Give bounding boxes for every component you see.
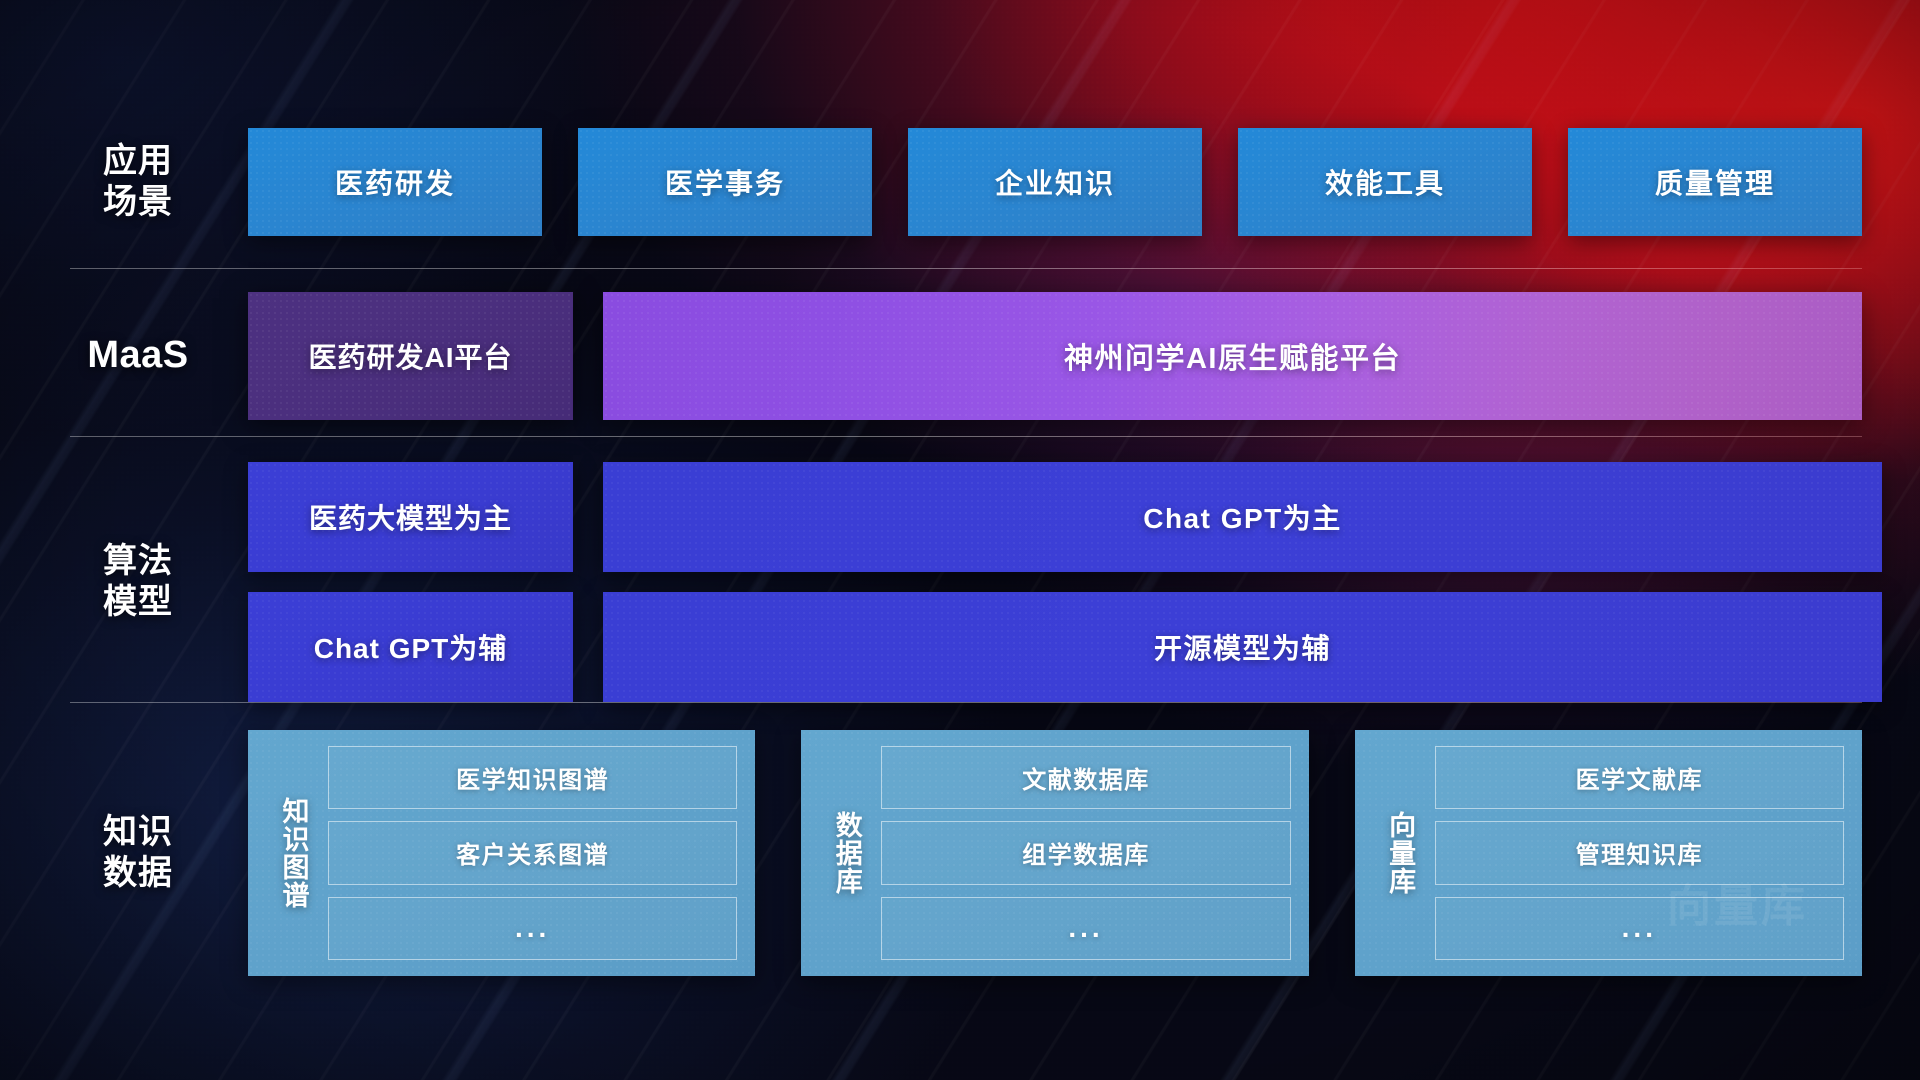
maas-card-label: 神州问学AI原生赋能平台: [1064, 335, 1401, 377]
knowledge-item-list: 医学知识图谱 客户关系图谱 ...: [328, 746, 737, 960]
knowledge-item-omics-db[interactable]: 组学数据库: [881, 821, 1290, 884]
algo-card-opensource-secondary[interactable]: 开源模型为辅: [603, 592, 1882, 702]
layer-algorithm-models: 算法 模型 医药大模型为主 Chat GPT为主 Chat GPT为辅 开源模型…: [0, 462, 1920, 702]
knowledge-group-title: 数据库: [811, 746, 881, 960]
divider-algorithm-knowledge: [70, 702, 1862, 703]
knowledge-item-literature-db[interactable]: 文献数据库: [881, 746, 1290, 809]
layer-label-maas: MaaS: [48, 333, 228, 379]
knowledge-item-management-knowledge[interactable]: 管理知识库: [1435, 821, 1844, 884]
knowledge-item-list: 医学文献库 管理知识库 ...: [1435, 746, 1844, 960]
layer-applications: 应用 场景 医药研发 医学事务 企业知识 效能工具 质量管理: [0, 128, 1920, 236]
layer-label-knowledge-data: 知识 数据: [48, 812, 228, 894]
architecture-diagram: 应用 场景 医药研发 医学事务 企业知识 效能工具 质量管理: [0, 0, 1920, 1080]
divider-applications-maas: [70, 268, 1862, 269]
layer-label-applications: 应用 场景: [48, 141, 228, 223]
knowledge-item-customer-graph[interactable]: 客户关系图谱: [328, 821, 737, 884]
algo-card-chatgpt-primary[interactable]: Chat GPT为主: [603, 462, 1882, 572]
app-card-label: 企业知识: [995, 162, 1115, 202]
knowledge-item-more[interactable]: ...: [328, 897, 737, 960]
knowledge-item-more[interactable]: ...: [1435, 897, 1844, 960]
app-card-quality-management[interactable]: 质量管理: [1568, 128, 1862, 236]
knowledge-group-database[interactable]: 数据库 文献数据库 组学数据库 ...: [801, 730, 1308, 976]
maas-card-drug-ai-platform[interactable]: 医药研发AI平台: [248, 292, 573, 420]
knowledge-group-graph[interactable]: 知识图谱 医学知识图谱 客户关系图谱 ...: [248, 730, 755, 976]
knowledge-group-title: 向量库: [1365, 746, 1435, 960]
knowledge-item-medical-graph[interactable]: 医学知识图谱: [328, 746, 737, 809]
app-card-label: 医学事务: [665, 162, 785, 202]
knowledge-group-track: 知识图谱 医学知识图谱 客户关系图谱 ... 数据库 文献数据库 组学数据库 .…: [248, 730, 1862, 976]
algo-card-chatgpt-secondary[interactable]: Chat GPT为辅: [248, 592, 573, 702]
layer-knowledge-data: 知识 数据 知识图谱 医学知识图谱 客户关系图谱 ... 数据库 文献数据库: [0, 730, 1920, 976]
algorithm-row-primary: 医药大模型为主 Chat GPT为主: [0, 462, 1920, 572]
knowledge-group-title: 知识图谱: [258, 746, 328, 960]
knowledge-item-list: 文献数据库 组学数据库 ...: [881, 746, 1290, 960]
app-card-label: 效能工具: [1325, 162, 1445, 202]
app-card-label: 质量管理: [1655, 162, 1775, 202]
algo-card-label: Chat GPT为辅: [314, 627, 508, 667]
divider-maas-algorithm: [70, 436, 1862, 437]
algo-card-label: 医药大模型为主: [309, 497, 512, 537]
app-card-label: 医药研发: [335, 162, 455, 202]
algo-card-drug-llm-primary[interactable]: 医药大模型为主: [248, 462, 573, 572]
algorithm-row-secondary: Chat GPT为辅 开源模型为辅: [0, 592, 1920, 702]
app-card-enterprise-knowledge[interactable]: 企业知识: [908, 128, 1202, 236]
maas-card-label: 医药研发AI平台: [308, 336, 512, 376]
knowledge-group-vector-store[interactable]: 向量库 向量库 医学文献库 管理知识库 ...: [1355, 730, 1862, 976]
knowledge-item-medical-literature[interactable]: 医学文献库: [1435, 746, 1844, 809]
algo-card-label: Chat GPT为主: [1143, 497, 1342, 537]
app-card-efficiency-tools[interactable]: 效能工具: [1238, 128, 1532, 236]
algo-card-label: 开源模型为辅: [1154, 627, 1331, 667]
maas-card-shenzhou-platform[interactable]: 神州问学AI原生赋能平台: [603, 292, 1862, 420]
layer-maas: MaaS 医药研发AI平台 神州问学AI原生赋能平台: [0, 292, 1920, 420]
knowledge-item-more[interactable]: ...: [881, 897, 1290, 960]
app-card-medical-affairs[interactable]: 医学事务: [578, 128, 872, 236]
app-card-drug-rnd[interactable]: 医药研发: [248, 128, 542, 236]
application-card-track: 医药研发 医学事务 企业知识 效能工具 质量管理: [248, 128, 1862, 236]
